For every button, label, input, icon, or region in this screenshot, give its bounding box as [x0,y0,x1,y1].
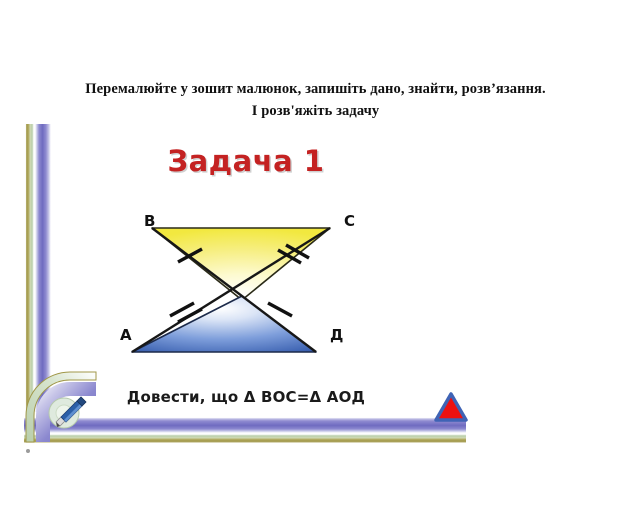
red-triangle-marker [434,392,468,422]
frame-corner-spiral [24,370,98,444]
triangle-aod [132,296,316,352]
instruction-heading: Перемалюйте у зошит малюнок, запишіть да… [0,78,631,123]
triangle-boc [152,228,330,300]
instruction-line-2: І розв'яжіть задачу [0,100,631,122]
figure-caption: Довести, що Δ BOC=Δ AOД [24,388,468,406]
slide-panel: Задача 1 [24,124,468,444]
instruction-line-1: Перемалюйте у зошит малюнок, запишіть да… [85,81,545,97]
vertex-label-b: В [144,212,155,230]
red-triangle-shape [436,394,466,420]
page-title: Задача 1 [24,144,468,178]
vertex-label-c: С [344,212,355,230]
corner-selection-dot [26,449,30,453]
vertex-label-d: Д [330,326,343,344]
crossed-triangles-figure: В С А Д [118,212,380,366]
tick-od [268,303,292,316]
vertex-label-a: А [120,326,132,344]
